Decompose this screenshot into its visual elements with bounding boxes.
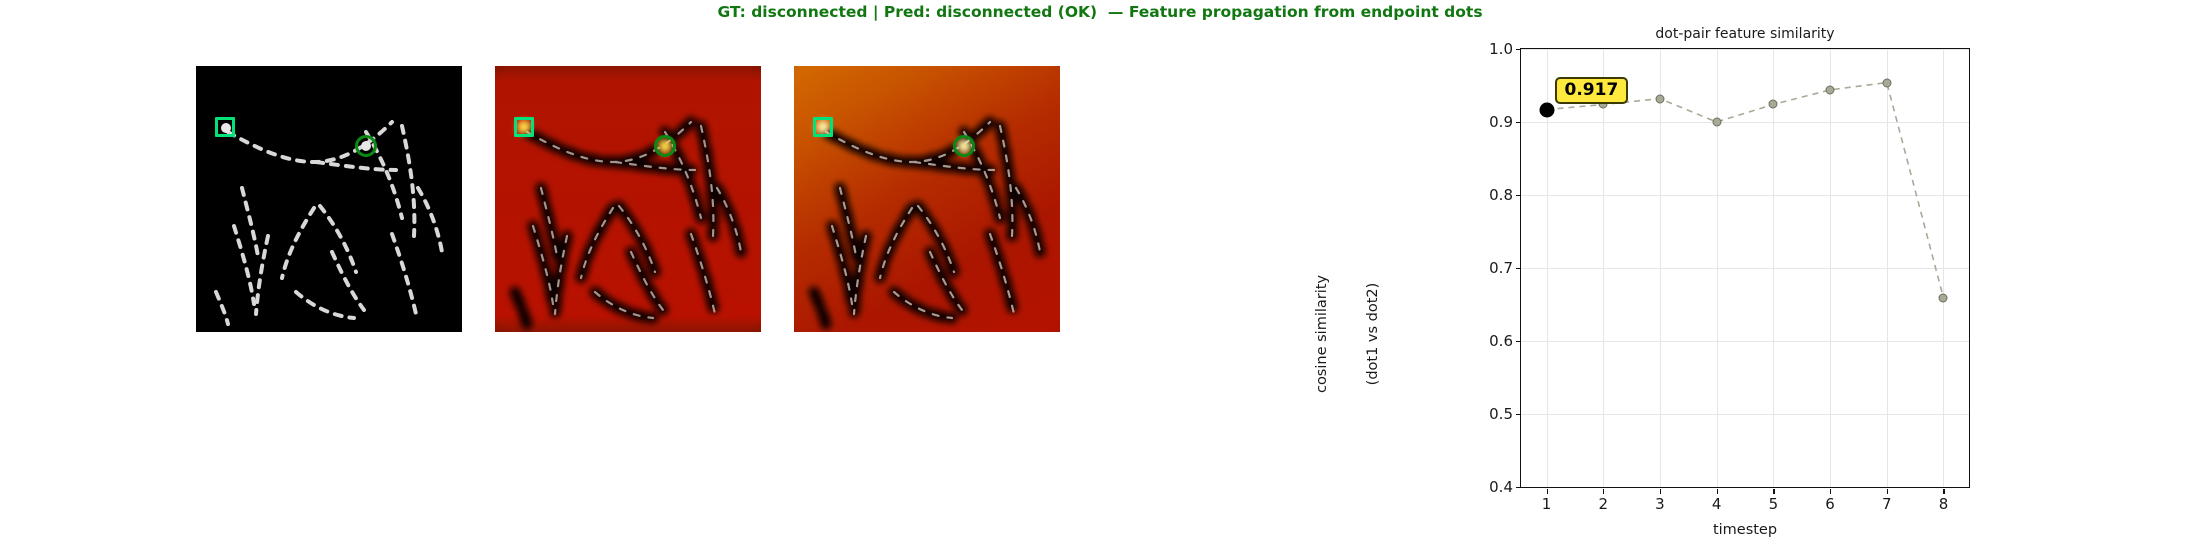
chart-ytick-label: 0.7 <box>1453 259 1513 277</box>
chart-series-line <box>1521 49 1969 487</box>
chart-xtick-label: 6 <box>1810 495 1850 513</box>
chart-ytick-label: 0.8 <box>1453 186 1513 204</box>
chart-xtick-mark <box>1660 489 1661 494</box>
chart-xtick-mark <box>1830 489 1831 494</box>
chart-ytick-label: 0.9 <box>1453 113 1513 131</box>
chart-xtick-label: 7 <box>1867 495 1907 513</box>
chart-data-point[interactable] <box>1769 100 1778 109</box>
panel-sim-to-dot1: t=1/8 sim to dot1 (dot2 sim=0.917) <box>495 42 761 332</box>
panel-sim2-heatmap <box>794 66 1060 332</box>
chart-xtick-mark <box>1603 489 1604 494</box>
marker-dot2-square-input <box>215 117 235 137</box>
chart-ytick-label: 1.0 <box>1453 40 1513 58</box>
chart-data-point[interactable] <box>1882 78 1891 87</box>
dashed-strokes-sim2 <box>794 66 1060 332</box>
chart-dot-pair-feature-similarity: dot-pair feature similarity cosine simil… <box>1520 48 1970 488</box>
marker-dot1-circle-sim1 <box>654 135 676 157</box>
chart-xtick-mark <box>1547 489 1548 494</box>
dashed-strokes-input <box>196 66 462 332</box>
figure-suptitle: GT: disconnected | Pred: disconnected (O… <box>0 3 2200 21</box>
chart-xtick-mark <box>1773 489 1774 494</box>
chart-yaxis-label-line2: (dot1 vs dot2) <box>1365 134 1382 534</box>
chart-data-point[interactable] <box>1826 85 1835 94</box>
chart-ytick-label: 0.5 <box>1453 405 1513 423</box>
chart-ytick-label: 0.6 <box>1453 332 1513 350</box>
chart-xtick-label: 4 <box>1697 495 1737 513</box>
marker-dot1-circle-sim2 <box>953 135 975 157</box>
marker-dot2-square-sim1 <box>514 117 534 137</box>
chart-plot-area: 0.40.50.60.70.80.91.0123456780.917 <box>1520 48 1970 488</box>
chart-xtick-label: 1 <box>1527 495 1567 513</box>
chart-xtick-mark <box>1717 489 1718 494</box>
chart-xtick-label: 8 <box>1923 495 1963 513</box>
dashed-strokes-sim1 <box>495 66 761 332</box>
panel-input-image <box>196 66 462 332</box>
chart-xaxis-label: timestep <box>1520 522 1970 538</box>
marker-dot2-square-sim2 <box>813 117 833 137</box>
chart-xtick-label: 5 <box>1753 495 1793 513</box>
panel-sim-to-dot2: t=1/8 sim to dot2 (dot1 sim=0.917) <box>794 42 1060 332</box>
chart-title: dot-pair feature similarity <box>1520 26 1970 42</box>
chart-yaxis-label: cosine similarity (dot1 vs dot2) <box>1280 134 1416 534</box>
chart-data-point[interactable] <box>1712 118 1721 127</box>
chart-ytick-mark <box>1516 487 1521 488</box>
chart-xtick-mark <box>1943 489 1944 494</box>
chart-yaxis-label-line1: cosine similarity <box>1314 134 1331 534</box>
panel-input: input (circle=dot1, square=dot2) <box>196 42 462 332</box>
chart-ytick-label: 0.4 <box>1453 478 1513 496</box>
chart-xtick-label: 3 <box>1640 495 1680 513</box>
chart-xtick-label: 2 <box>1583 495 1623 513</box>
chart-xtick-mark <box>1887 489 1888 494</box>
chart-data-point[interactable] <box>1939 293 1948 302</box>
figure-canvas: GT: disconnected | Pred: disconnected (O… <box>0 0 2200 550</box>
chart-data-point[interactable] <box>1655 94 1664 103</box>
chart-current-point[interactable] <box>1539 102 1554 117</box>
marker-dot1-circle-input <box>355 135 377 157</box>
chart-value-callout: 0.917 <box>1555 77 1629 104</box>
panel-sim1-heatmap <box>495 66 761 332</box>
